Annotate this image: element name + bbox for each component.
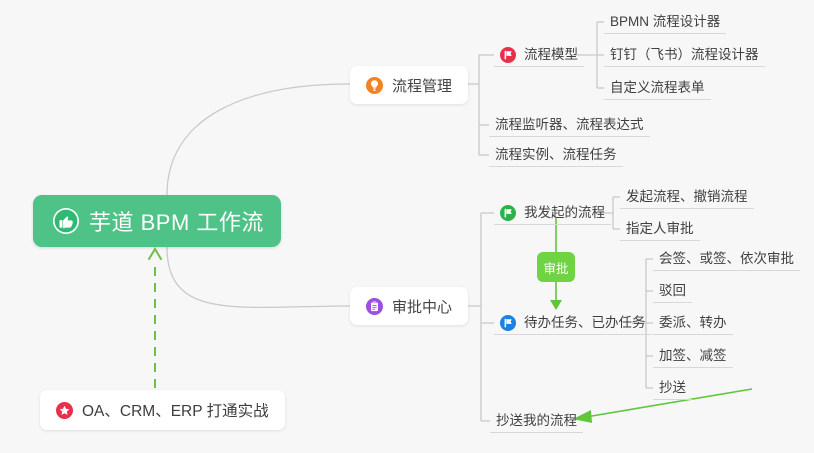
node-label-add-remove-sign: 加签、减签 [659, 348, 727, 364]
node-cc-my-processes[interactable]: 抄送我的流程 [490, 409, 583, 433]
thumbs-up-icon [53, 208, 79, 234]
node-label-my-started-processes: 我发起的流程 [524, 205, 605, 221]
node-label-listener-expression: 流程监听器、流程表达式 [495, 117, 644, 133]
node-label-dingtalk-feishu-designer: 钉钉（飞书）流程设计器 [610, 47, 759, 63]
node-label-countersign-approval: 会签、或签、依次审批 [659, 251, 794, 267]
mindmap-canvas: 芋道 BPM 工作流 流程管理 流程模型 BPMN 流程设计器 钉 [0, 0, 814, 453]
branch-label-process-management: 流程管理 [392, 75, 452, 96]
node-start-cancel-process[interactable]: 发起流程、撤销流程 [620, 185, 754, 209]
flag-icon [500, 205, 516, 221]
floating-note-oa-crm-erp[interactable]: OA、CRM、ERP 打通实战 [40, 390, 285, 430]
node-instance-task[interactable]: 流程实例、流程任务 [489, 143, 623, 167]
node-label-reject: 驳回 [659, 283, 686, 299]
node-bpmn-designer[interactable]: BPMN 流程设计器 [604, 10, 726, 34]
node-label-assignee-approval: 指定人审批 [626, 221, 694, 237]
node-process-model[interactable]: 流程模型 [494, 43, 584, 67]
node-add-remove-sign[interactable]: 加签、减签 [653, 344, 733, 368]
clipboard-icon [366, 298, 383, 315]
flag-icon [500, 47, 516, 63]
root-node[interactable]: 芋道 BPM 工作流 [33, 195, 281, 247]
node-custom-process-form[interactable]: 自定义流程表单 [604, 76, 711, 100]
node-label-start-cancel-process: 发起流程、撤销流程 [626, 189, 748, 205]
lightbulb-icon [366, 77, 383, 94]
node-my-started-processes[interactable]: 我发起的流程 [494, 201, 611, 225]
branch-node-approval-center[interactable]: 审批中心 [350, 287, 468, 325]
node-delegate-transfer[interactable]: 委派、转办 [653, 311, 733, 335]
link-root-to-process-management [167, 84, 350, 195]
node-cc[interactable]: 抄送 [653, 376, 692, 400]
node-listener-expression[interactable]: 流程监听器、流程表达式 [489, 113, 650, 137]
node-label-custom-process-form: 自定义流程表单 [610, 80, 705, 96]
branch-label-approval-center: 审批中心 [392, 296, 452, 317]
node-label-cc: 抄送 [659, 380, 686, 396]
approval-badge-label: 审批 [543, 258, 568, 277]
branch-node-process-management[interactable]: 流程管理 [350, 66, 468, 104]
node-label-bpmn-designer: BPMN 流程设计器 [610, 14, 720, 30]
root-label: 芋道 BPM 工作流 [89, 205, 264, 237]
node-countersign-approval[interactable]: 会签、或签、依次审批 [653, 247, 800, 271]
node-label-delegate-transfer: 委派、转办 [659, 315, 727, 331]
approval-badge[interactable]: 审批 [537, 252, 575, 282]
node-label-todo-done-tasks: 待办任务、已办任务 [524, 315, 646, 331]
link-root-to-approval-center [167, 247, 350, 307]
annotation-arrowhead-todo [550, 300, 562, 310]
annotation-arrowhead-root [149, 249, 161, 259]
node-label-instance-task: 流程实例、流程任务 [495, 147, 617, 163]
node-label-cc-my-processes: 抄送我的流程 [496, 413, 577, 429]
floating-note-label: OA、CRM、ERP 打通实战 [82, 399, 269, 421]
flag-icon [500, 315, 516, 331]
star-icon [56, 402, 73, 419]
node-todo-done-tasks[interactable]: 待办任务、已办任务 [494, 311, 652, 335]
node-label-process-model: 流程模型 [524, 47, 578, 63]
node-assignee-approval[interactable]: 指定人审批 [620, 217, 700, 241]
node-reject[interactable]: 驳回 [653, 279, 692, 303]
node-dingtalk-feishu-designer[interactable]: 钉钉（飞书）流程设计器 [604, 43, 765, 67]
